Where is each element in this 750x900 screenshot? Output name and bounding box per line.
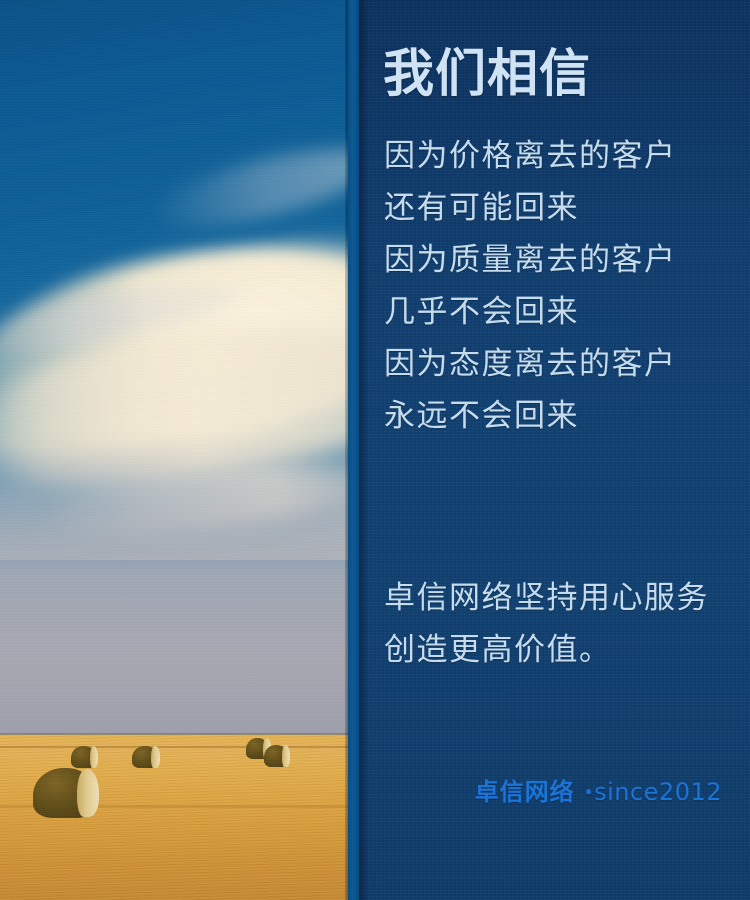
panel-content: 我们相信 因为价格离去的客户还有可能回来因为质量离去的客户几乎不会回来因为态度离… bbox=[348, 0, 750, 900]
verse-line-3: 因为质量离去的客户 bbox=[384, 234, 744, 286]
horizon-haze bbox=[0, 430, 348, 735]
closing-block: 卓信网络坚持用心服务创造更高价值。 bbox=[384, 572, 744, 676]
closing-line-1: 卓信网络坚持用心服务 bbox=[384, 572, 744, 624]
bale-cut-face bbox=[90, 746, 99, 767]
page-title: 我们相信 bbox=[383, 44, 591, 106]
bale-mid-center bbox=[132, 746, 158, 768]
bale-large-foreground bbox=[33, 768, 97, 818]
signature-separator: · bbox=[575, 778, 594, 806]
brand-signature: 卓信网络 ·since2012 bbox=[475, 772, 722, 807]
bale-far-right-b bbox=[264, 745, 288, 767]
bale-cut-face bbox=[77, 769, 99, 817]
poster-canvas: 我们相信 因为价格离去的客户还有可能回来因为质量离去的客户几乎不会回来因为态度离… bbox=[0, 0, 750, 900]
verse-line-6: 永远不会回来 bbox=[384, 390, 744, 442]
bale-cut-face bbox=[151, 746, 160, 767]
signature-brand: 卓信网络 bbox=[475, 778, 575, 806]
verse-line-5: 因为态度离去的客户 bbox=[384, 338, 744, 390]
closing-line-2: 创造更高价值。 bbox=[384, 624, 744, 676]
bale-cut-face bbox=[282, 745, 290, 766]
message-panel: 我们相信 因为价格离去的客户还有可能回来因为质量离去的客户几乎不会回来因为态度离… bbox=[348, 0, 750, 900]
verse-line-4: 几乎不会回来 bbox=[384, 286, 744, 338]
verse-line-2: 还有可能回来 bbox=[384, 182, 744, 234]
bale-mid-left bbox=[71, 746, 96, 768]
field-furrow-upper bbox=[0, 746, 348, 748]
prairie-photo bbox=[0, 0, 348, 900]
signature-since: since2012 bbox=[594, 778, 722, 806]
verse-block: 因为价格离去的客户还有可能回来因为质量离去的客户几乎不会回来因为态度离去的客户永… bbox=[384, 130, 744, 442]
verse-line-1: 因为价格离去的客户 bbox=[384, 130, 744, 182]
